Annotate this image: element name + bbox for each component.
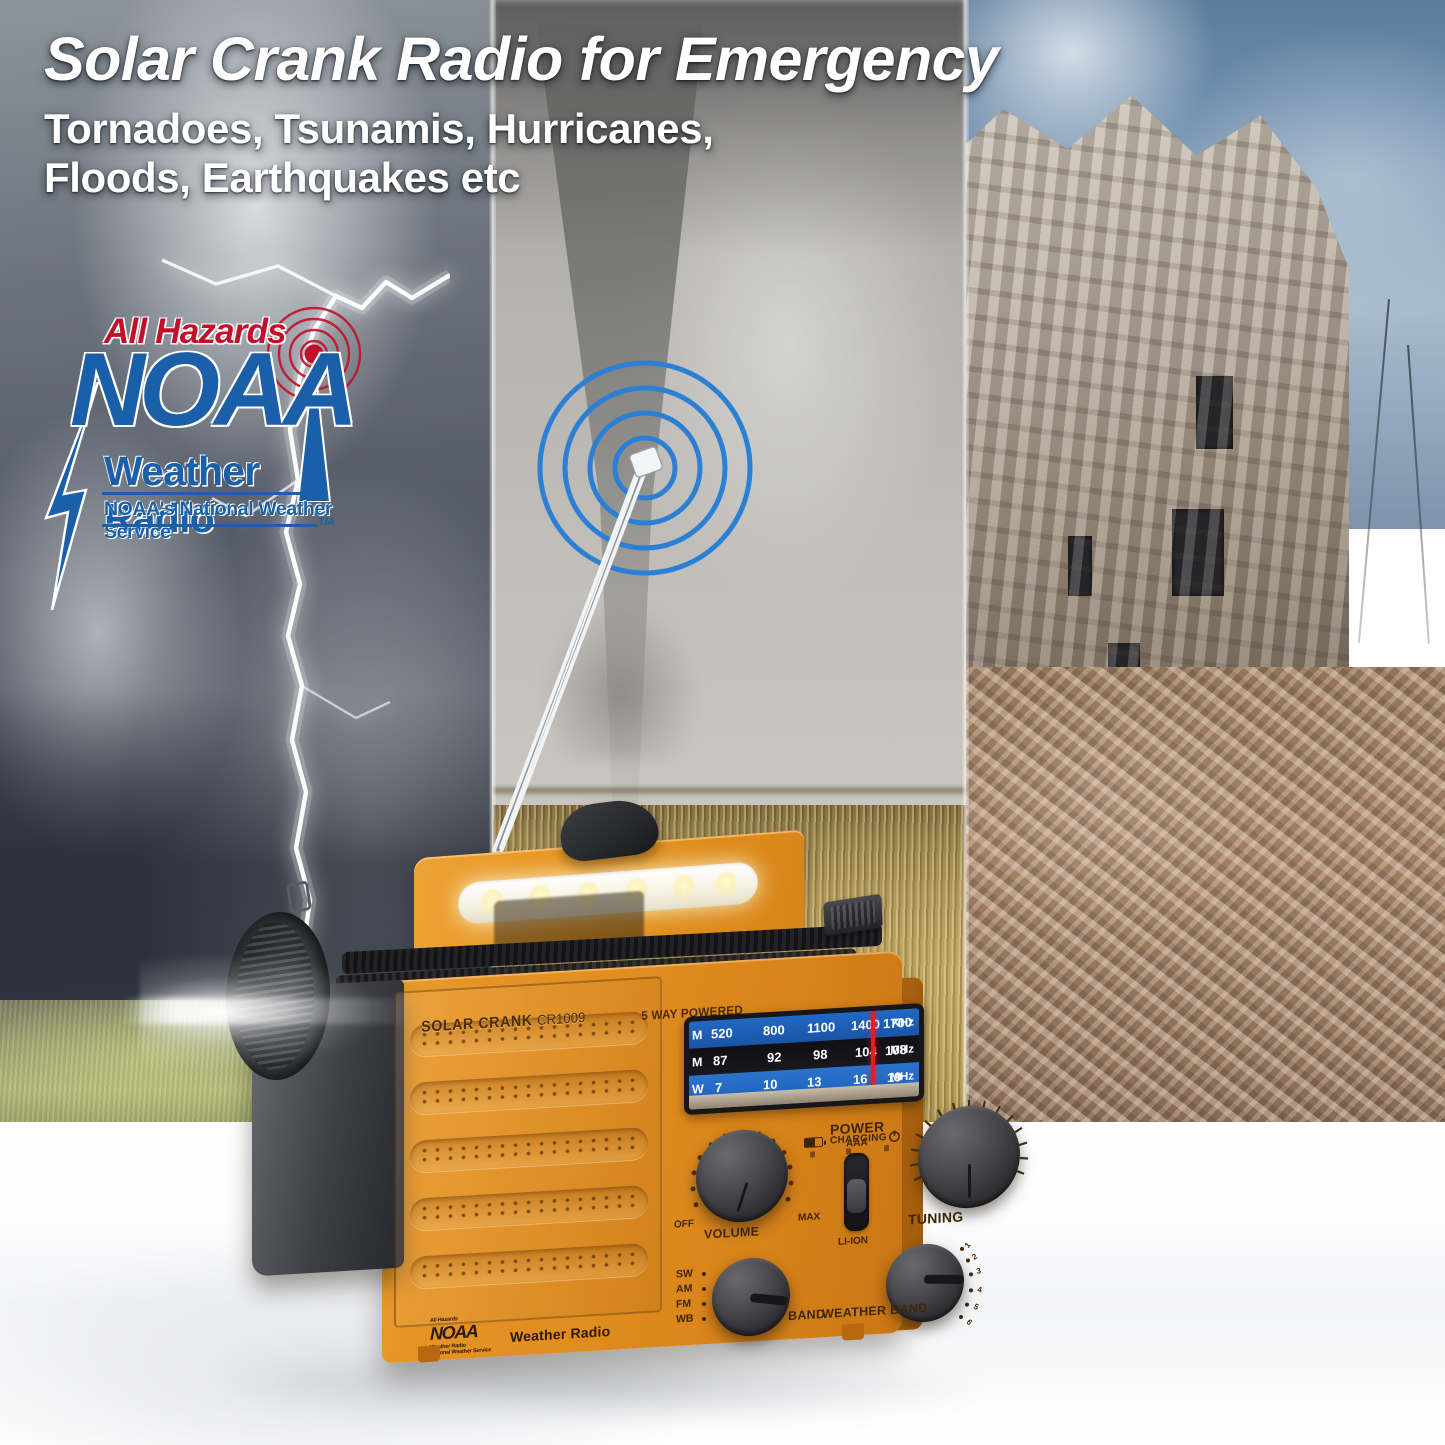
speaker-grille-slot: [410, 1069, 648, 1115]
band-label: BAND: [788, 1307, 825, 1323]
volume-knob-pointer: [736, 1182, 748, 1212]
band-knob-pointer: [750, 1293, 789, 1306]
speaker-grille-slot: [410, 1243, 648, 1289]
dial-band-letter: M: [692, 1028, 702, 1043]
signal-waves-icon: [440, 350, 790, 870]
lamp-led: [672, 874, 696, 902]
dial-unit: MHz: [890, 1070, 914, 1083]
tuning-knob-pointer: [968, 1164, 971, 1198]
power-label: POWER: [830, 1118, 884, 1137]
power-source-switch[interactable]: [844, 1152, 869, 1231]
telescopic-antenna: [498, 446, 663, 850]
radio-foot: [842, 1323, 864, 1340]
building-window: [1196, 376, 1232, 449]
dial-tick: 1100: [807, 1019, 835, 1036]
dial-band-letter: W: [692, 1081, 704, 1096]
status-led: [810, 1151, 815, 1157]
dial-tick: 92: [767, 1049, 781, 1065]
svg-text:1: 1: [963, 1240, 973, 1250]
power-icon: [888, 1129, 901, 1143]
band-dot: [702, 1272, 706, 1276]
headline-subtitle: Tornadoes, Tsunamis, Hurricanes, Floods,…: [44, 105, 1294, 202]
svg-text:3: 3: [976, 1266, 983, 1276]
lamp-led: [714, 871, 738, 899]
page-title: Solar Crank Radio for Emergency: [44, 28, 1294, 91]
weather-band-position-markers: 1 2 3 4 5 6: [954, 1237, 1000, 1332]
dial-tick: 800: [763, 1022, 785, 1038]
dial-tick: 1400: [851, 1016, 880, 1033]
dial-unit: MHz: [890, 1043, 914, 1056]
model-number: CR1009: [537, 1009, 585, 1028]
power-aaa-label: AAA: [846, 1137, 868, 1149]
dial-unit: KHz: [892, 1016, 914, 1029]
dial-tick: 520: [711, 1025, 733, 1041]
product-marketing-image: Solar Crank Radio for Emergency Tornadoe…: [0, 0, 1445, 1445]
noaa-divider-bottom: [102, 524, 317, 527]
band-option-am: AM: [676, 1283, 692, 1296]
flashlight-hook-clip: [286, 880, 312, 914]
rubble-debris-field: [966, 667, 1445, 1150]
headline-block: Solar Crank Radio for Emergency Tornadoe…: [44, 28, 1294, 203]
band-dot: [702, 1287, 706, 1291]
frequency-dial-display: M 520 800 1100 1400 1700 KHz M 87 92 98 …: [684, 1003, 924, 1115]
antenna-signal-group: [440, 350, 790, 870]
band-option-fm: FM: [676, 1298, 691, 1311]
tuning-label: TUNING: [908, 1208, 963, 1227]
dial-tick: 98: [813, 1047, 827, 1063]
svg-text:2: 2: [971, 1252, 980, 1262]
radio-foot: [418, 1345, 440, 1362]
dial-tick: 87: [713, 1053, 727, 1069]
noaa-trademark: TM: [318, 516, 334, 528]
building-window: [1068, 536, 1092, 596]
speaker-grille-slot: [410, 1127, 648, 1173]
noaa-weather-radio-logo: All Hazards NOAA Weather Radio NOAA's Na…: [42, 290, 372, 620]
noaa-acronym: NOAA: [70, 338, 352, 442]
power-liion-label: LI-ION: [838, 1235, 868, 1248]
band-option-wb: WB: [676, 1312, 694, 1325]
battery-icon: [804, 1137, 823, 1148]
flashlight-beam: [122, 998, 422, 1024]
band-dot: [702, 1302, 706, 1306]
band-dot: [702, 1317, 706, 1321]
svg-text:4: 4: [977, 1285, 983, 1295]
solar-crank-radio: SOLAR CRANK CR1009 5 WAY POWERED CHARGIN…: [232, 838, 972, 1403]
subtitle-line-2: Floods, Earthquakes etc: [44, 154, 1294, 203]
dial-band-letter: M: [692, 1055, 702, 1070]
status-led: [884, 1145, 889, 1151]
power-switch-nub: [847, 1178, 866, 1213]
svg-text:5: 5: [972, 1302, 981, 1312]
volume-max-label: MAX: [798, 1211, 820, 1223]
building-window: [1172, 509, 1224, 596]
volume-off-label: OFF: [674, 1218, 694, 1230]
noaa-divider-top: [102, 492, 317, 495]
svg-text:6: 6: [965, 1317, 975, 1327]
subtitle-line-1: Tornadoes, Tsunamis, Hurricanes,: [44, 105, 1294, 154]
speaker-grille-slot: [410, 1185, 648, 1231]
band-option-sw: SW: [676, 1267, 693, 1280]
